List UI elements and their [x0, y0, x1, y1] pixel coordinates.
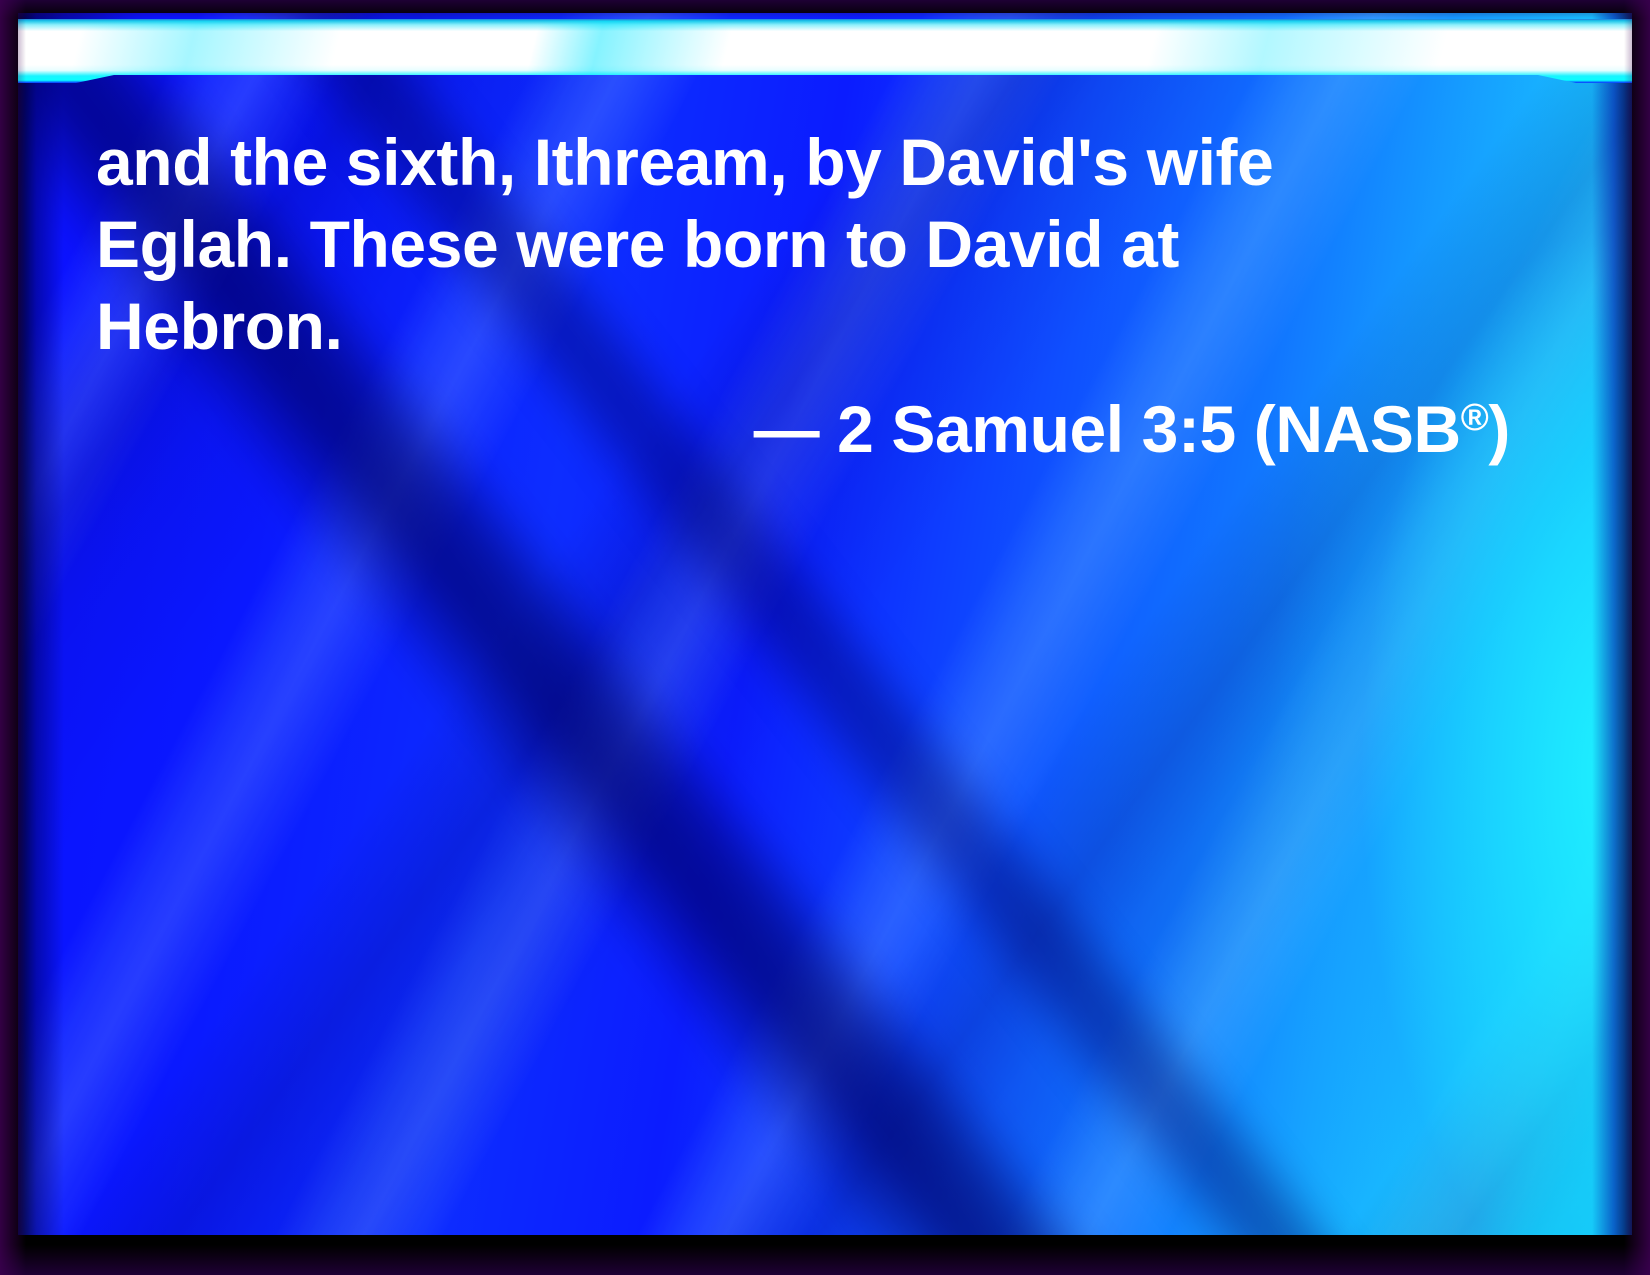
- citation-closing-paren: ): [1488, 392, 1510, 466]
- slide-frame: and the sixth, Ithream, by David's wife …: [0, 0, 1650, 1275]
- citation-reference: 2 Samuel 3:5 (NASB: [819, 392, 1461, 466]
- verse-citation: — 2 Samuel 3:5 (NASB®): [96, 388, 1510, 470]
- slide-canvas: and the sixth, Ithream, by David's wife …: [18, 13, 1632, 1235]
- verse-area: and the sixth, Ithream, by David's wife …: [18, 13, 1632, 1235]
- citation-em-dash: —: [754, 392, 820, 466]
- registered-trademark-icon: ®: [1461, 397, 1489, 439]
- verse-text: and the sixth, Ithream, by David's wife …: [96, 121, 1406, 367]
